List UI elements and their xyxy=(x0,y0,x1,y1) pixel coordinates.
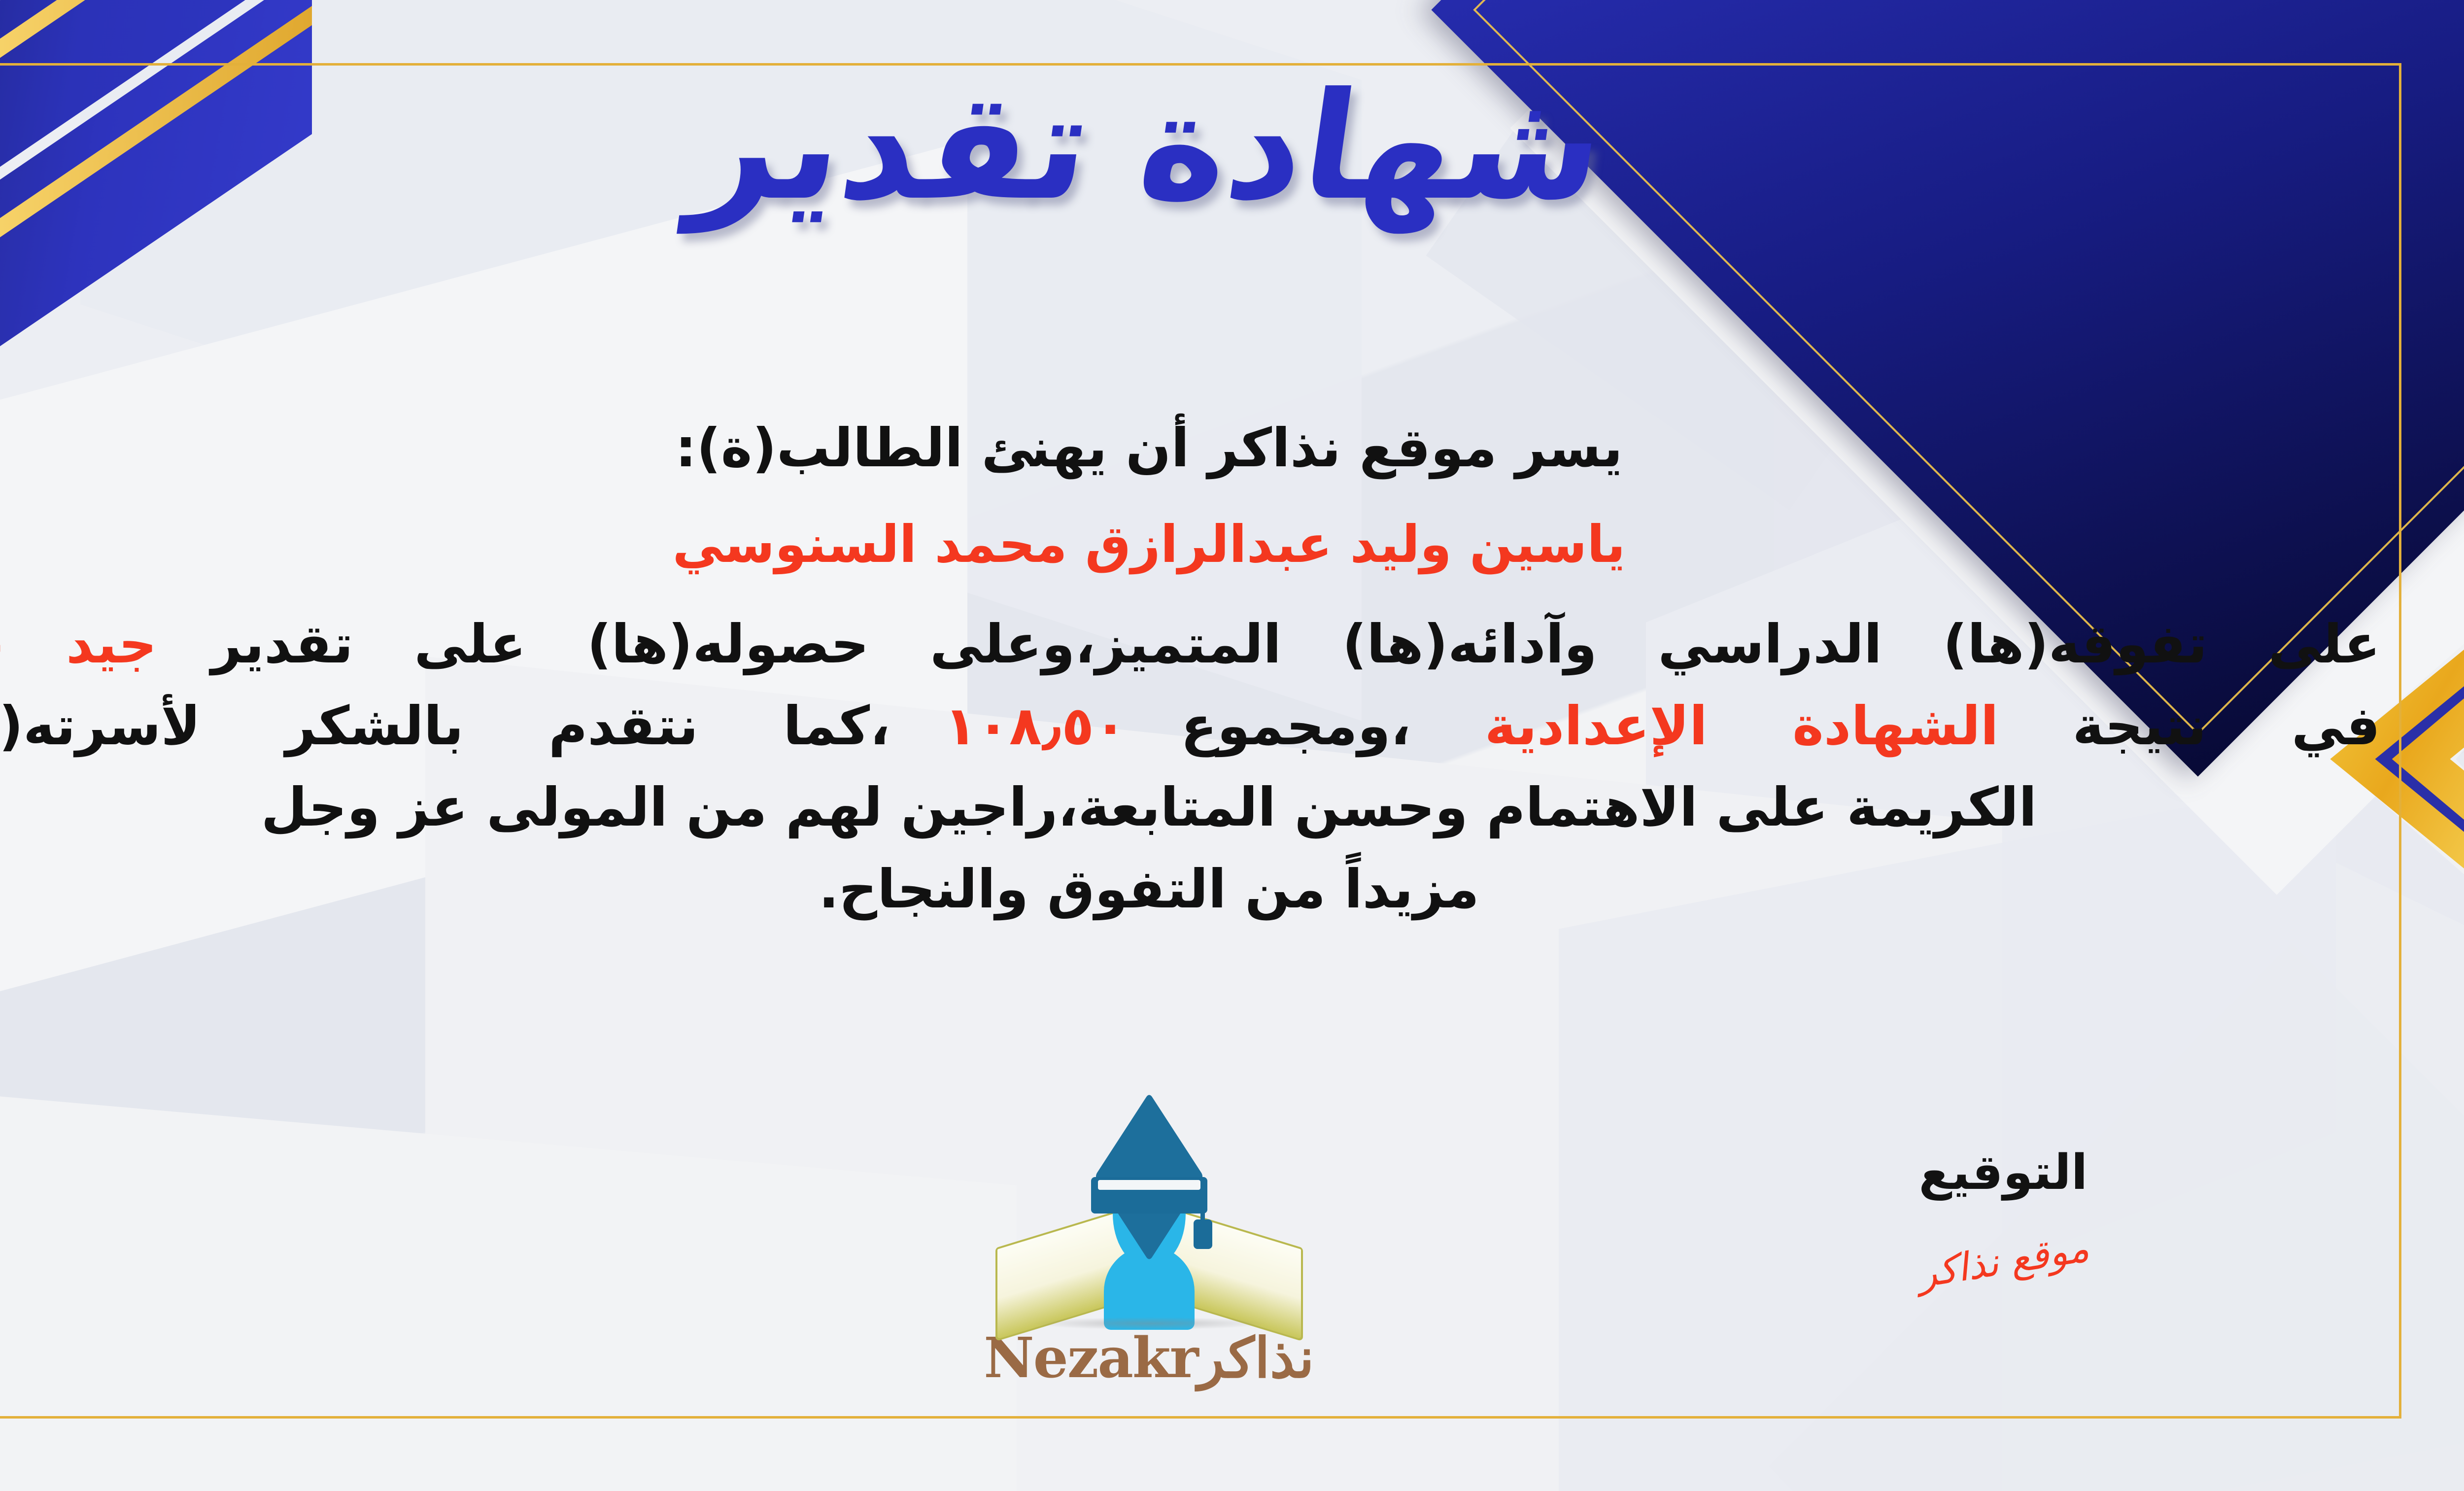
total-label: ،ومجموع xyxy=(1181,695,1411,757)
tassel-cord-icon xyxy=(1200,1183,1205,1221)
tassel-knot-icon xyxy=(1194,1219,1212,1249)
result-prefix: في نتيجة xyxy=(2073,695,2380,757)
exam-name: الشهادة الإعدادية xyxy=(1485,695,1999,757)
result-line: في نتيجةالشهادة الإعدادية،ومجموع١٠٨٫٥٠،ك… xyxy=(0,687,2380,766)
certificate-title: شهادة تقدير xyxy=(0,69,2464,224)
praise-line: على تفوقه(ها) الدراسي وآدائه(ها) المتميز… xyxy=(0,605,2380,684)
logo-mark xyxy=(962,1124,1336,1321)
certificate-page: شهادة تقدير يسر موقع نذاكر أن يهنئ الطال… xyxy=(0,0,2464,1491)
praise-text: على تفوقه(ها) الدراسي وآدائه(ها) المتميز… xyxy=(211,614,2380,675)
book-shadow xyxy=(1031,1317,1267,1330)
family-line: الكريمة على الاهتمام وحسن المتابعة،راجين… xyxy=(0,768,2380,847)
logo-latin: Nezakr xyxy=(984,1326,1198,1390)
student-name: ياسين وليد عبدالرازق محمد السنوسي xyxy=(0,507,2380,583)
graduation-cap-highlight xyxy=(1098,1180,1200,1190)
thanks-tail: ،كما نتقدم بالشكر لأسرته(ها) xyxy=(0,695,890,757)
intro-line: يسر موقع نذاكر أن يهنئ الطالب(ة): xyxy=(0,409,2380,488)
closing-line: مزيداً من التفوق والنجاح. xyxy=(0,850,2380,929)
total-value: ١٠٨٫٥٠ xyxy=(944,695,1127,757)
certificate-body: يسر موقع نذاكر أن يهنئ الطالب(ة): ياسين … xyxy=(0,409,2380,929)
grade-value: جيد جداً xyxy=(0,614,157,675)
logo-wordmark: نذاكرNezakr xyxy=(0,1326,2464,1390)
site-logo: نذاكرNezakr xyxy=(0,1124,2464,1390)
